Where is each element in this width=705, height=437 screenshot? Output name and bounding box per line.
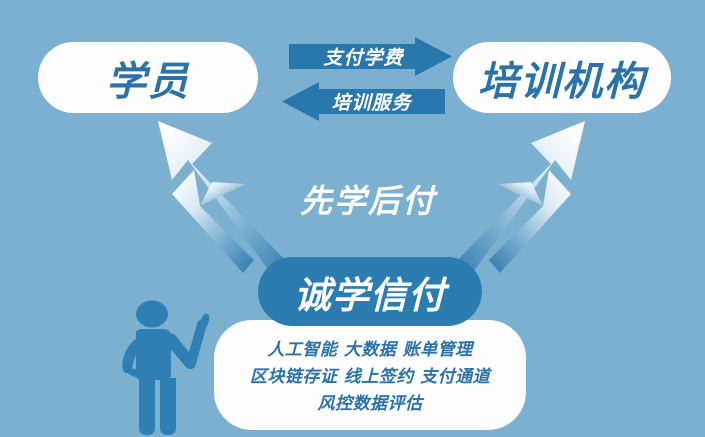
capability-tags-line-1: 人工智能 大数据 账单管理 (267, 337, 472, 364)
flow-arrow-pay-tuition: 支付学费 (289, 37, 452, 76)
capability-tags-line-3: 风控数据评估 (318, 391, 423, 418)
capability-tags-panel: 人工智能 大数据 账单管理 区块链存证 线上签约 支付通道 风控数据评估 (214, 320, 526, 430)
student-node[interactable]: 学员 (38, 42, 258, 113)
person-pointing-up-icon (113, 300, 223, 437)
student-node-label: 学员 (106, 49, 190, 107)
capability-tags-line-2: 区块链存证 线上签约 支付通道 (250, 364, 490, 391)
slogan-text: 先学后付 (300, 176, 436, 222)
gradient-double-arrow-up-right-icon (448, 113, 593, 290)
training-agency-node[interactable]: 培训机构 (453, 42, 671, 113)
training-agency-node-label: 培训机构 (478, 49, 646, 107)
diagram-canvas: 先学后付 支付学费 培训服务 学员 培训机构 人工智能 大数据 账单管理 区块链… (0, 0, 705, 437)
core-platform-node-label: 诚学信付 (294, 265, 446, 319)
core-platform-node[interactable]: 诚学信付 (258, 257, 482, 326)
flow-arrow-training-service: 培训服务 (282, 82, 445, 121)
